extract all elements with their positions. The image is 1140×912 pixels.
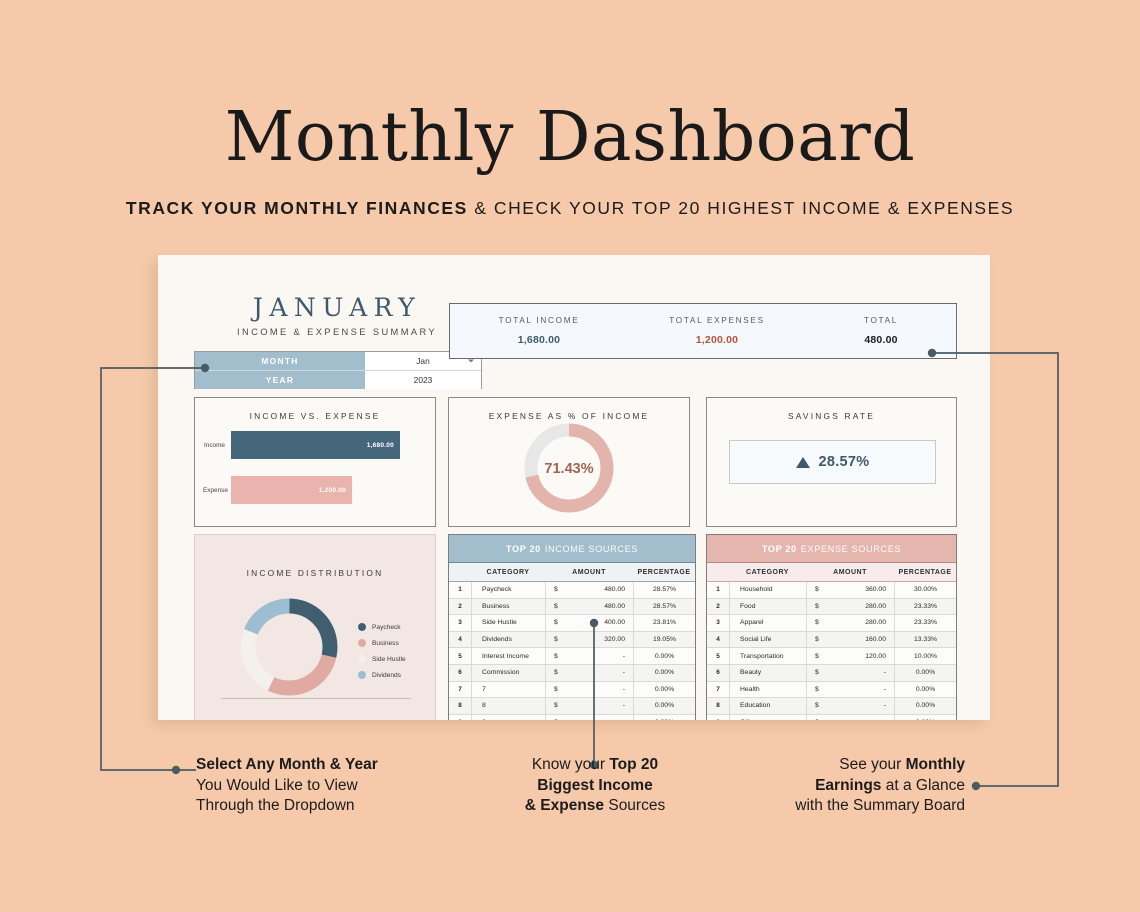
table-row: 3Apparel$280.0023.33% (707, 615, 956, 632)
row-amount-value: - (623, 653, 625, 660)
row-amount: $160.00 (806, 632, 894, 648)
dashboard-sheet: JANUARY INCOME & EXPENSE SUMMARY MONTH J… (158, 255, 990, 720)
caption-right-line1a: See your (839, 756, 905, 773)
row-index: 2 (449, 603, 471, 610)
row-index: 4 (707, 636, 729, 643)
row-amount-value: - (884, 669, 886, 676)
caption-middle: Know your Top 20 Biggest Income & Expens… (430, 755, 760, 817)
currency-symbol: $ (815, 586, 819, 593)
currency-symbol: $ (815, 653, 819, 660)
table-row: 88$-0.00% (449, 698, 695, 715)
income-col-percentage: PERCENTAGE (633, 569, 695, 576)
row-amount-value: 360.00 (865, 586, 886, 593)
caption-mid-line2: Biggest Income (537, 777, 652, 794)
currency-symbol: $ (815, 619, 819, 626)
row-amount-value: 280.00 (865, 603, 886, 610)
top-expense-sources-table: TOP 20EXPENSE SOURCES CATEGORY AMOUNT PE… (706, 534, 957, 720)
currency-symbol: $ (554, 669, 558, 676)
legend-item: Paycheck (358, 619, 406, 635)
row-amount: $280.00 (806, 599, 894, 615)
income-col-category: CATEGORY (471, 569, 545, 576)
savings-rate-box: 28.57% (729, 440, 936, 484)
income-vs-expense-title: INCOME VS. EXPENSE (195, 411, 435, 421)
row-amount-value: 480.00 (604, 586, 625, 593)
table-row: 3Side Hustle$400.0023.81% (449, 615, 695, 632)
row-category: Paycheck (471, 582, 545, 598)
currency-symbol: $ (815, 636, 819, 643)
caption-mid-line3a: & Expense (525, 797, 604, 814)
row-amount-value: - (623, 686, 625, 693)
connector-right-dot-end (972, 782, 980, 790)
row-percentage: 0.00% (633, 648, 695, 664)
summary-total-expenses-label: TOTAL EXPENSES (628, 316, 806, 325)
currency-symbol: $ (815, 686, 819, 693)
row-amount: $- (545, 665, 633, 681)
row-category: Transportation (729, 648, 806, 664)
legend-swatch-business (358, 639, 366, 647)
summary-board: TOTAL INCOME 1,680.00 TOTAL EXPENSES 1,2… (449, 303, 957, 359)
table-row: 2Business$480.0028.57% (449, 599, 695, 616)
row-percentage: 0.00% (894, 715, 956, 720)
expense-col-amount: AMOUNT (806, 569, 894, 576)
row-category: Social Life (729, 632, 806, 648)
row-amount: $- (545, 682, 633, 698)
currency-symbol: $ (554, 653, 558, 660)
row-percentage: 19.05% (633, 632, 695, 648)
row-percentage: 0.00% (894, 665, 956, 681)
currency-symbol: $ (554, 686, 558, 693)
legend-label-side-hustle: Side Hustle (372, 656, 406, 663)
row-index: 9 (707, 719, 729, 720)
caption-right-line2b: at a Glance (881, 777, 965, 794)
savings-rate-value: 28.57% (819, 454, 870, 470)
row-amount: $360.00 (806, 582, 894, 598)
currency-symbol: $ (554, 619, 558, 626)
row-index: 1 (707, 586, 729, 593)
row-amount-value: 480.00 (604, 603, 625, 610)
table-row: 6Beauty$-0.00% (707, 665, 956, 682)
caption-right-line2a: Earnings (815, 777, 881, 794)
income-table-header-row: CATEGORY AMOUNT PERCENTAGE (449, 563, 695, 582)
table-row: 99$-0.00% (449, 715, 695, 720)
expense-table-body: 1Household$360.0030.00%2Food$280.0023.33… (707, 582, 956, 720)
table-row: 5Transportation$120.0010.00% (707, 648, 956, 665)
row-index: 3 (449, 619, 471, 626)
currency-symbol: $ (554, 586, 558, 593)
row-category: Interest Income (471, 648, 545, 664)
row-percentage: 0.00% (633, 715, 695, 720)
table-row: 6Commission$-0.00% (449, 665, 695, 682)
row-category: 8 (471, 698, 545, 714)
row-percentage: 10.00% (894, 648, 956, 664)
summary-total-expenses: TOTAL EXPENSES 1,200.00 (628, 316, 806, 346)
summary-total-income-label: TOTAL INCOME (450, 316, 628, 325)
row-percentage: 0.00% (633, 665, 695, 681)
expense-col-percentage: PERCENTAGE (894, 569, 956, 576)
currency-symbol: $ (554, 719, 558, 720)
month-year-selector[interactable]: MONTH Jan YEAR 2023 (194, 351, 482, 389)
row-category: Beauty (729, 665, 806, 681)
income-vs-expense-card: INCOME VS. EXPENSE Income 1,680.00 Expen… (194, 397, 436, 527)
row-category: Dividends (471, 632, 545, 648)
currency-symbol: $ (815, 669, 819, 676)
triangle-up-icon (796, 457, 810, 468)
bar-income-value: 1,680.00 (367, 442, 400, 449)
table-row: 7Health$-0.00% (707, 682, 956, 699)
row-amount: $- (806, 715, 894, 720)
row-amount-value: - (884, 719, 886, 720)
summary-total-label: TOTAL (806, 316, 956, 325)
row-amount: $- (545, 715, 633, 720)
row-amount: $- (545, 648, 633, 664)
page-title: Monthly Dashboard (0, 104, 1140, 172)
income-table-title-rest: INCOME SOURCES (541, 544, 638, 554)
row-amount: $320.00 (545, 632, 633, 648)
row-category: Side Hustle (471, 615, 545, 631)
bar-label-expense: Expense (203, 487, 228, 494)
row-percentage: 0.00% (633, 682, 695, 698)
expense-table-header-row: CATEGORY AMOUNT PERCENTAGE (707, 563, 956, 582)
chevron-down-icon[interactable] (468, 360, 474, 363)
month-subheading: INCOME & EXPENSE SUMMARY (194, 327, 480, 337)
month-heading: JANUARY (194, 293, 480, 322)
row-percentage: 30.00% (894, 582, 956, 598)
expense-col-category: CATEGORY (729, 569, 806, 576)
legend-item: Business (358, 635, 406, 651)
row-amount: $400.00 (545, 615, 633, 631)
row-amount-value: - (623, 702, 625, 709)
legend-label-business: Business (372, 640, 399, 647)
page-subtitle: TRACK YOUR MONTHLY FINANCES & CHECK YOUR… (0, 198, 1140, 219)
row-index: 5 (449, 653, 471, 660)
row-category: 7 (471, 682, 545, 698)
page-subtitle-bold: TRACK YOUR MONTHLY FINANCES (126, 198, 468, 218)
row-index: 5 (707, 653, 729, 660)
savings-rate-title: SAVINGS RATE (707, 411, 956, 421)
row-index: 6 (707, 669, 729, 676)
summary-total: TOTAL 480.00 (806, 316, 956, 346)
row-percentage: 23.81% (633, 615, 695, 631)
row-percentage: 23.33% (894, 615, 956, 631)
table-row: 1Paycheck$480.0028.57% (449, 582, 695, 599)
row-amount-value: - (884, 702, 886, 709)
expense-percent-value: 71.43% (449, 461, 689, 477)
row-index: 7 (449, 686, 471, 693)
row-percentage: 23.33% (894, 599, 956, 615)
bar-label-income: Income (204, 442, 225, 449)
row-index: 1 (449, 586, 471, 593)
bar-expense-value: 1,200.00 (319, 487, 352, 494)
row-amount-value: 320.00 (604, 636, 625, 643)
row-amount: $- (806, 682, 894, 698)
row-category: Commission (471, 665, 545, 681)
row-amount: $280.00 (806, 615, 894, 631)
row-category: Business (471, 599, 545, 615)
summary-total-income-value: 1,680.00 (450, 334, 628, 346)
row-index: 2 (707, 603, 729, 610)
row-category: Gift (729, 715, 806, 720)
table-row: 8Education$-0.00% (707, 698, 956, 715)
expense-percent-card: EXPENSE AS % OF INCOME 71.43% (448, 397, 690, 527)
currency-symbol: $ (815, 603, 819, 610)
legend-item: Dividends (358, 667, 406, 683)
caption-right-line3: with the Summary Board (720, 796, 965, 817)
table-row: 9Gift$-0.00% (707, 715, 956, 720)
row-index: 3 (707, 619, 729, 626)
connector-left-dot-end (172, 766, 180, 774)
bar-expense: 1,200.00 (231, 476, 352, 504)
row-category: Apparel (729, 615, 806, 631)
row-amount-value: 160.00 (865, 636, 886, 643)
income-table-body: 1Paycheck$480.0028.57%2Business$480.0028… (449, 582, 695, 720)
table-row: 4Social Life$160.0013.33% (707, 632, 956, 649)
summary-total-income: TOTAL INCOME 1,680.00 (450, 316, 628, 346)
month-label: MONTH (195, 352, 365, 370)
row-percentage: 0.00% (633, 698, 695, 714)
row-amount: $- (806, 665, 894, 681)
currency-symbol: $ (554, 636, 558, 643)
year-label: YEAR (195, 371, 365, 389)
year-value[interactable]: 2023 (365, 371, 481, 389)
poster-canvas: Monthly Dashboard TRACK YOUR MONTHLY FIN… (0, 0, 1140, 912)
row-index: 7 (707, 686, 729, 693)
row-amount: $- (545, 698, 633, 714)
row-amount: $480.00 (545, 599, 633, 615)
income-table-title: TOP 20INCOME SOURCES (449, 535, 695, 563)
row-percentage: 0.00% (894, 682, 956, 698)
caption-left-line1: Select Any Month & Year (196, 756, 378, 773)
caption-mid-line3b: Sources (604, 797, 665, 814)
expense-table-title-rest: EXPENSE SOURCES (797, 544, 901, 554)
row-percentage: 28.57% (633, 582, 695, 598)
row-index: 8 (449, 702, 471, 709)
summary-total-expenses-value: 1,200.00 (628, 334, 806, 346)
month-value: Jan (416, 356, 430, 366)
currency-symbol: $ (554, 702, 558, 709)
income-table-title-bold: TOP 20 (506, 544, 541, 554)
row-category: Food (729, 599, 806, 615)
legend-swatch-side-hustle (358, 655, 366, 663)
caption-mid-line1a: Know your (532, 756, 610, 773)
row-amount: $480.00 (545, 582, 633, 598)
expense-table-title: TOP 20EXPENSE SOURCES (707, 535, 956, 563)
row-percentage: 28.57% (633, 599, 695, 615)
income-col-amount: AMOUNT (545, 569, 633, 576)
summary-total-value: 480.00 (806, 334, 956, 346)
row-index: 8 (707, 702, 729, 709)
table-row: 2Food$280.0023.33% (707, 599, 956, 616)
legend-swatch-paycheck (358, 623, 366, 631)
row-category: Household (729, 582, 806, 598)
row-index: 9 (449, 719, 471, 720)
row-category: Education (729, 698, 806, 714)
legend-item: Side Hustle (358, 651, 406, 667)
row-index: 6 (449, 669, 471, 676)
expense-table-title-bold: TOP 20 (762, 544, 797, 554)
row-amount-value: - (623, 719, 625, 720)
caption-mid-line1b: Top 20 (609, 756, 658, 773)
legend-label-dividends: Dividends (372, 672, 401, 679)
currency-symbol: $ (815, 702, 819, 709)
row-percentage: 13.33% (894, 632, 956, 648)
legend-swatch-dividends (358, 671, 366, 679)
legend-label-paycheck: Paycheck (372, 624, 401, 631)
row-amount: $- (806, 698, 894, 714)
row-amount-value: 280.00 (865, 619, 886, 626)
caption-right: See your Monthly Earnings at a Glance wi… (720, 755, 965, 817)
savings-rate-card: SAVINGS RATE 28.57% (706, 397, 957, 527)
table-row: 1Household$360.0030.00% (707, 582, 956, 599)
bar-income: 1,680.00 (231, 431, 400, 459)
table-row: 4Dividends$320.0019.05% (449, 632, 695, 649)
currency-symbol: $ (554, 603, 558, 610)
month-selector-row[interactable]: MONTH Jan (195, 352, 481, 370)
row-percentage: 0.00% (894, 698, 956, 714)
page-subtitle-rest: & CHECK YOUR TOP 20 HIGHEST INCOME & EXP… (468, 198, 1014, 218)
year-selector-row[interactable]: YEAR 2023 (195, 370, 481, 389)
income-distribution-card: INCOME DISTRIBUTION Paycheck Business (194, 534, 436, 720)
table-row: 77$-0.00% (449, 682, 695, 699)
table-row: 5Interest Income$-0.00% (449, 648, 695, 665)
row-amount-value: - (884, 686, 886, 693)
row-amount: $120.00 (806, 648, 894, 664)
row-amount-value: - (623, 669, 625, 676)
top-income-sources-table: TOP 20INCOME SOURCES CATEGORY AMOUNT PER… (448, 534, 696, 720)
caption-right-line1b: Monthly (906, 756, 965, 773)
row-amount-value: 400.00 (604, 619, 625, 626)
row-index: 4 (449, 636, 471, 643)
row-category: Health (729, 682, 806, 698)
currency-symbol: $ (815, 719, 819, 720)
row-amount-value: 120.00 (865, 653, 886, 660)
income-distribution-legend: Paycheck Business Side Hustle Dividends (358, 619, 406, 683)
row-category: 9 (471, 715, 545, 720)
divider (221, 698, 411, 699)
